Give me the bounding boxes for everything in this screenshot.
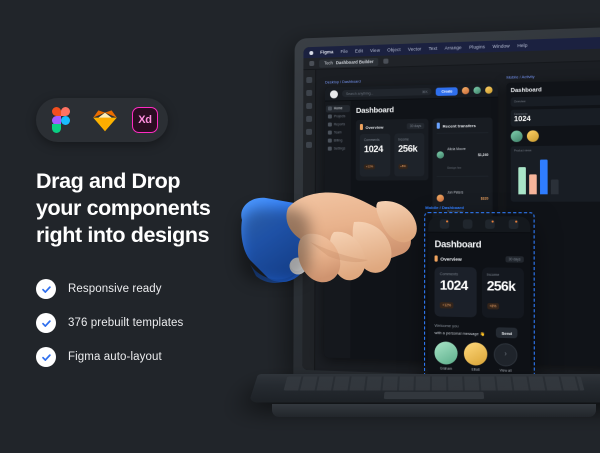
headline-line-2: your components <box>36 195 266 222</box>
menu-item-edit[interactable]: Edit <box>355 48 363 53</box>
file-tab-name: Dashboard Builder <box>336 59 374 65</box>
laptop-base-lip <box>272 404 596 417</box>
create-button[interactable]: Create <box>436 87 457 96</box>
app-logo-icon <box>330 90 338 98</box>
artboard-label-right: Mobile / Activity <box>506 75 534 80</box>
stat-value: 1024 <box>364 144 386 154</box>
menu-item-window[interactable]: Window <box>492 43 509 49</box>
chart-card: Product views <box>511 145 600 202</box>
laptop-base <box>249 374 600 403</box>
date-range-select[interactable]: 30 days <box>505 256 524 262</box>
artboard-label-main: Desktop / Dashboard <box>325 80 361 85</box>
figma-icon[interactable] <box>52 107 78 133</box>
chevron-right-icon: › <box>494 342 518 366</box>
search-shortcut: ⌘K <box>422 90 428 94</box>
sidebar-item-billing[interactable]: Billing <box>328 138 348 142</box>
promo-hero-scene: Xd Drag and Drop your components right i… <box>0 0 600 453</box>
home-icon[interactable] <box>309 61 314 66</box>
people-row: Graham Elliott › View all <box>434 341 524 374</box>
table-row[interactable]: Jon Peters Subscription $320 <box>437 176 489 220</box>
stat-card-income: Income 256k +8% <box>481 267 523 318</box>
mobile-title: Dashboard <box>435 239 524 250</box>
comment-tool-icon[interactable] <box>306 142 312 148</box>
menu-item-file[interactable]: File <box>340 49 347 54</box>
feature-label: 376 prebuilt templates <box>68 317 183 329</box>
sketch-icon[interactable] <box>92 108 118 132</box>
move-tool-icon[interactable] <box>306 77 312 83</box>
file-tab-team: Tech <box>324 60 333 65</box>
check-icon <box>36 313 56 333</box>
menu-item-vector[interactable]: Vector <box>408 46 421 52</box>
stat-value: 256k <box>398 143 420 153</box>
avatar <box>437 195 444 202</box>
apple-icon[interactable] <box>309 50 313 54</box>
menu-item-figma[interactable]: Figma <box>320 49 333 54</box>
accent-bar-icon <box>360 124 363 130</box>
headline-line-1: Drag and Drop <box>36 168 266 195</box>
person-name: View all <box>494 368 518 373</box>
avatar <box>434 341 457 365</box>
search-placeholder: Search anything... <box>346 91 374 96</box>
menu-item-arrange[interactable]: Arrange <box>445 45 462 51</box>
list-item[interactable]: Graham <box>434 341 457 371</box>
check-icon <box>36 347 56 367</box>
mobile-stats: Comments 1024 +12% Income 256k +8% <box>435 267 524 319</box>
headline-line-3: right into designs <box>36 222 266 249</box>
bar <box>529 174 537 194</box>
clock-icon[interactable] <box>508 220 518 229</box>
page-title: Drag and Drop your components right into… <box>36 168 266 249</box>
row-sub: Design fee <box>447 165 461 169</box>
3d-hand-illustration <box>236 168 436 298</box>
stat-value: 1024 <box>440 278 471 293</box>
avatar[interactable] <box>485 86 492 93</box>
image-icon[interactable] <box>485 219 495 228</box>
row-name: Alicia Moore <box>447 146 465 150</box>
overview-label: Overview <box>514 98 600 104</box>
feature-label: Responsive ready <box>68 283 162 295</box>
avatar <box>437 151 444 158</box>
recent-panel-title: Recent transfers <box>443 122 476 128</box>
sleeve-shadow <box>240 208 310 282</box>
promo-panel: Xd Drag and Drop your components right i… <box>36 98 266 367</box>
adobe-xd-icon[interactable]: Xd <box>132 107 158 133</box>
list-item: 376 prebuilt templates <box>36 313 266 333</box>
sidebar-item-label: Reports <box>334 122 345 126</box>
avatar[interactable] <box>462 87 469 94</box>
laptop-keyboard <box>284 376 585 390</box>
welcome-block: Welcome you with a personal message 👋 Se… <box>434 324 523 337</box>
menu-item-view[interactable]: View <box>370 48 380 53</box>
send-button[interactable]: Send <box>496 327 517 338</box>
avatar <box>511 130 523 142</box>
date-range-select[interactable]: 30 days <box>407 123 425 129</box>
frame-tool-icon[interactable] <box>306 90 312 96</box>
stat-card-comments: Comments 1024 +12% <box>435 267 477 318</box>
stat-value: 256k <box>487 279 519 294</box>
sidebar-item-label: Billing <box>334 138 343 142</box>
sidebar-item-label: Home <box>334 106 343 110</box>
sidebar-item-label: Team <box>334 130 342 134</box>
grid-icon[interactable] <box>440 219 449 228</box>
stat-label: Income <box>398 137 420 141</box>
row-amount: $1,240 <box>478 152 488 156</box>
sidebar-item-settings[interactable]: Settings <box>328 146 348 150</box>
stat-label: Comments <box>440 272 471 277</box>
sidebar-item-projects[interactable]: Projects <box>328 114 348 118</box>
text-tool-icon[interactable] <box>306 129 312 135</box>
check-icon <box>36 279 56 299</box>
feature-label: Figma auto-layout <box>68 351 162 363</box>
overview-title: Overview <box>440 256 461 261</box>
target-icon[interactable] <box>463 219 473 228</box>
row-name: Jon Peters <box>447 190 463 194</box>
avatar[interactable] <box>473 87 480 94</box>
view-all-button[interactable]: › View all <box>494 342 518 373</box>
sidebar-item-home[interactable]: Home <box>326 105 350 113</box>
row-sub: Subscription <box>447 209 463 213</box>
app-logo-pill-group: Xd <box>36 98 168 142</box>
stat-card: Comments 1024 <box>511 107 600 126</box>
dashboard-title: Dashboard <box>356 103 493 115</box>
stat-value: 1024 <box>514 114 600 124</box>
avatar <box>527 130 539 142</box>
menu-item-plugins[interactable]: Plugins <box>469 44 485 50</box>
menu-item-help[interactable]: Help <box>517 43 527 49</box>
search-input[interactable]: Search anything... ⌘K <box>342 88 432 97</box>
feature-list: Responsive ready 376 prebuilt templates … <box>36 279 266 367</box>
overview-card: Overview <box>511 94 600 106</box>
menu-item-text[interactable]: Text <box>429 46 438 51</box>
sidebar-item-label: Projects <box>334 114 346 118</box>
sidebar-item-reports[interactable]: Reports <box>328 122 348 126</box>
bar <box>551 179 559 194</box>
add-tab-icon[interactable] <box>384 59 389 64</box>
list-item: Responsive ready <box>36 279 266 299</box>
accent-bar-icon <box>437 123 440 129</box>
laptop-trackpad <box>384 392 484 399</box>
table-row[interactable]: Alicia Moore Design fee $1,240 <box>437 132 489 176</box>
bar-chart <box>518 155 600 194</box>
list-item: Figma auto-layout <box>36 347 266 367</box>
stat-label: Income <box>487 273 519 278</box>
person-name: Elliott <box>464 367 487 372</box>
file-tab[interactable]: Tech Dashboard Builder <box>319 57 378 67</box>
stat-label: Comments <box>364 138 386 142</box>
bar <box>518 167 526 194</box>
sidebar-item-team[interactable]: Team <box>328 130 348 134</box>
row-amount: $320 <box>481 196 489 200</box>
avatar <box>464 342 487 366</box>
artboard-mobile-dashboard[interactable]: Dashboard Overview 30 days Comments 1024 <box>428 216 530 381</box>
stat-delta-badge: +8% <box>487 303 499 309</box>
pen-tool-icon[interactable] <box>306 116 312 122</box>
mobile-toolbar <box>428 216 530 233</box>
bar <box>540 160 548 195</box>
stat-delta-badge: +12% <box>440 302 454 308</box>
overview-title: Overview <box>365 124 383 129</box>
menu-item-object[interactable]: Object <box>387 47 401 53</box>
sidebar-item-label: Settings <box>334 146 346 150</box>
list-item[interactable]: Elliott <box>464 342 487 373</box>
chart-title: Product views <box>514 148 600 153</box>
shape-tool-icon[interactable] <box>306 103 312 109</box>
person-name: Graham <box>434 366 457 371</box>
